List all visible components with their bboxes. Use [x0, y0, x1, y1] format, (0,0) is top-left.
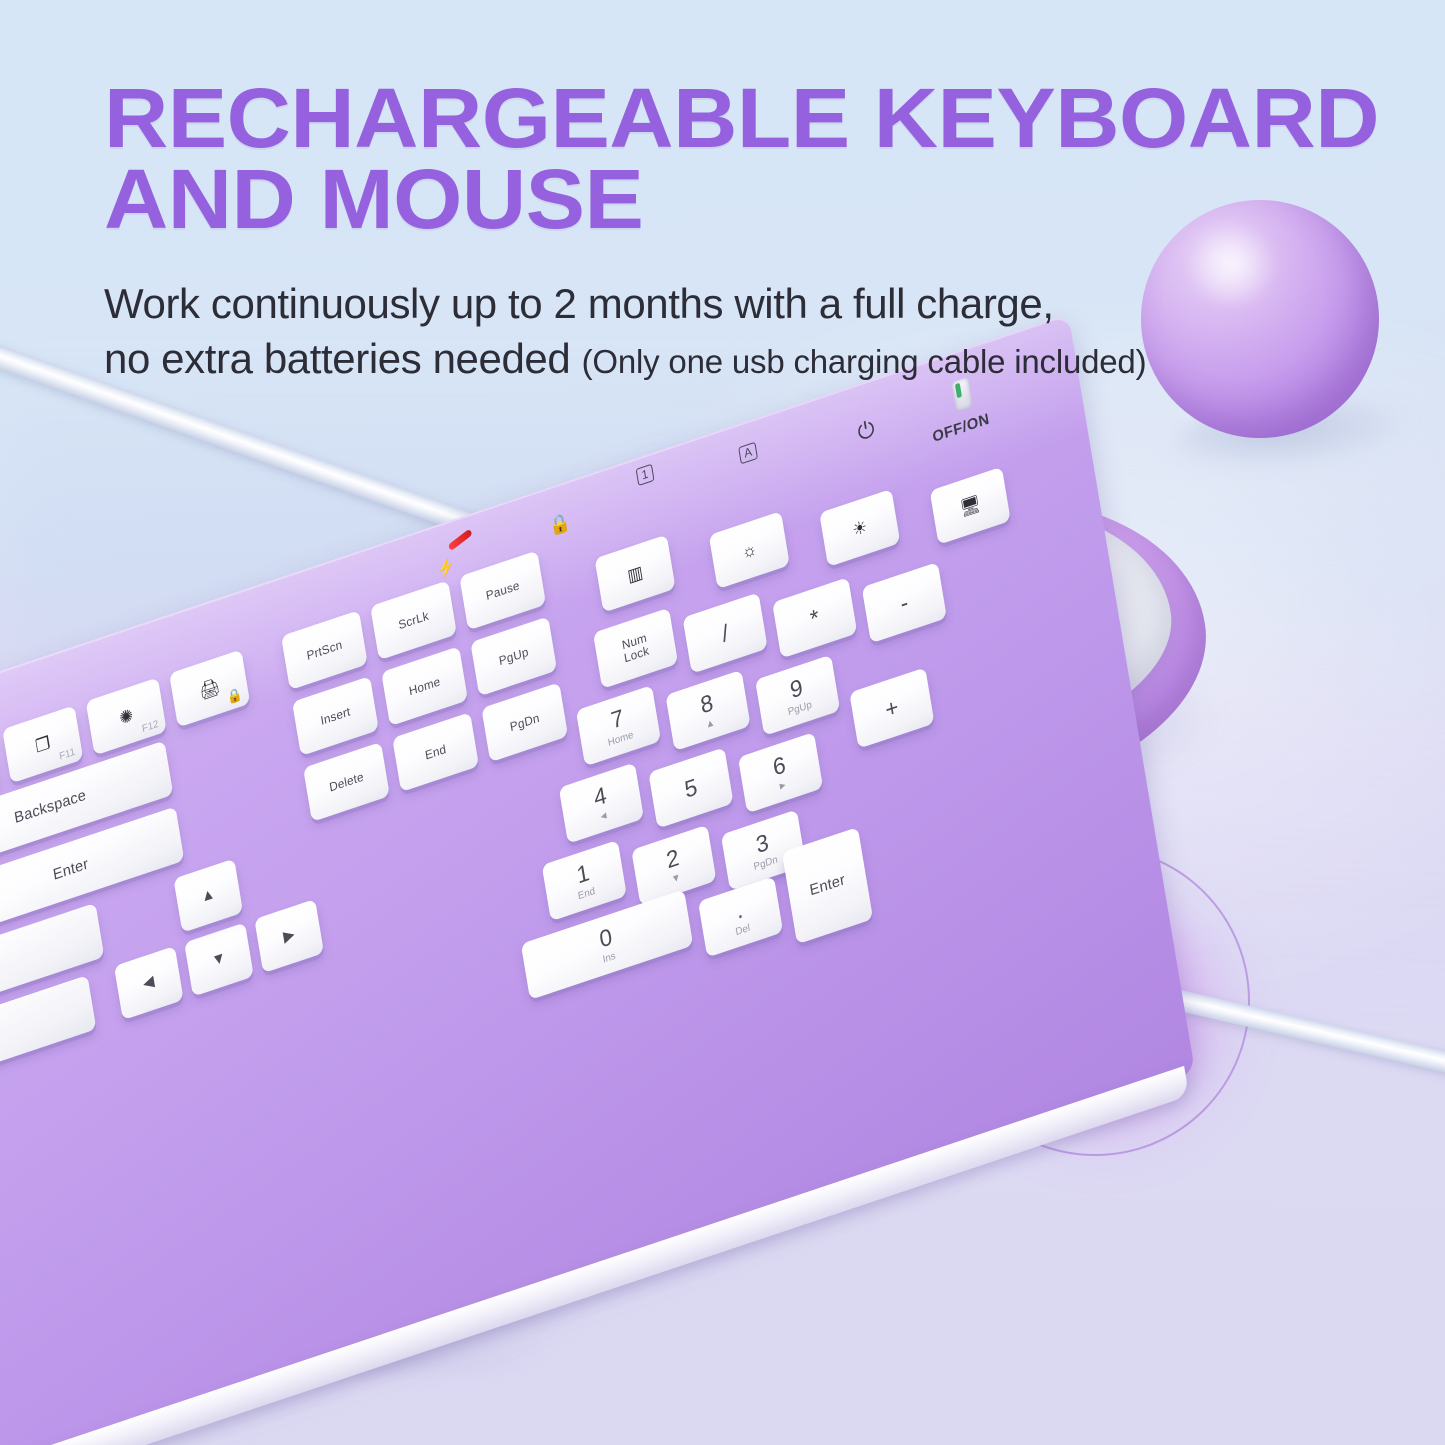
key-label: .	[734, 897, 744, 923]
key-sublabel: ▲	[705, 717, 716, 731]
key-label: Backspace	[13, 787, 87, 827]
key-label: 0	[598, 924, 614, 952]
key-label: 5	[683, 774, 699, 802]
key-label: /	[720, 620, 730, 646]
key-label: Delete	[328, 770, 364, 794]
subheading: Work continuously up to 2 months with a …	[104, 276, 1404, 387]
key-label: +	[883, 694, 900, 722]
window-restore-icon: ❐	[34, 733, 51, 755]
brightness-up-icon: ☀	[851, 517, 868, 539]
key-label: PgDn	[509, 711, 540, 733]
key-label: PgUp	[498, 645, 529, 667]
key-label: 9	[788, 674, 804, 702]
key-label: 4	[592, 782, 608, 810]
key-label: Enter	[809, 872, 847, 899]
key-label: PrtScn	[306, 638, 343, 662]
key-label: Enter	[52, 856, 90, 883]
key-sublabel: ▼	[671, 872, 682, 886]
key-label: Insert	[320, 705, 352, 727]
key-label: 8	[699, 689, 715, 717]
subheading-line-1: Work continuously up to 2 months with a …	[104, 276, 1404, 331]
key-label: ScrLk	[397, 609, 429, 632]
key-label: End	[424, 742, 447, 762]
brightness-down-icon: ☼	[740, 539, 758, 561]
key-sublabel: Ins	[602, 951, 616, 966]
key-label: ▶	[282, 926, 296, 945]
key-fn-label: F12	[141, 719, 159, 735]
key-label: 7	[609, 705, 625, 733]
subheading-line-2-note: (Only one usb charging cable included)	[582, 343, 1147, 380]
screen-lock-icon: 🖥	[959, 494, 982, 518]
key-label: -	[899, 589, 910, 616]
key-sublabel: Home	[607, 730, 634, 749]
key-label: 1	[575, 859, 591, 887]
headline-line-2: AND MOUSE	[104, 159, 1397, 240]
key-label: 6	[771, 752, 787, 780]
subheading-line-2-main: no extra batteries needed	[104, 335, 570, 382]
key-label: ▲	[200, 885, 217, 906]
key-label: 2	[665, 844, 681, 872]
key-sublabel: End	[577, 886, 596, 903]
lock-icon: 🔒	[226, 685, 244, 706]
key-label: Home	[408, 675, 441, 698]
print-lock-icon: 🖨	[198, 677, 221, 701]
key-sublabel: ◄	[598, 810, 609, 824]
product-hero-scene: DPI ✉ F9 ▭ F10 ❐ F11 ✺ F12	[0, 0, 1445, 1445]
key-sublabel: PgDn	[753, 854, 779, 873]
key-label: Pause	[485, 579, 520, 603]
key-sublabel: PgUp	[787, 699, 813, 718]
key-label: 3	[754, 829, 770, 857]
key-sublabel: ►	[777, 779, 788, 793]
headline-line-1: RECHARGEABLE KEYBOARD	[104, 71, 1379, 165]
key-sublabel: Del	[735, 923, 751, 939]
key-label: ◀	[142, 973, 156, 992]
page-title: RECHARGEABLE KEYBOARD AND MOUSE	[104, 78, 1397, 239]
key-label: *	[808, 604, 821, 631]
key-fn-label: F11	[59, 747, 76, 763]
key-label: ▼	[211, 949, 228, 970]
settings-icon: ✺	[118, 706, 134, 727]
calculator-icon: ▥	[626, 563, 644, 585]
